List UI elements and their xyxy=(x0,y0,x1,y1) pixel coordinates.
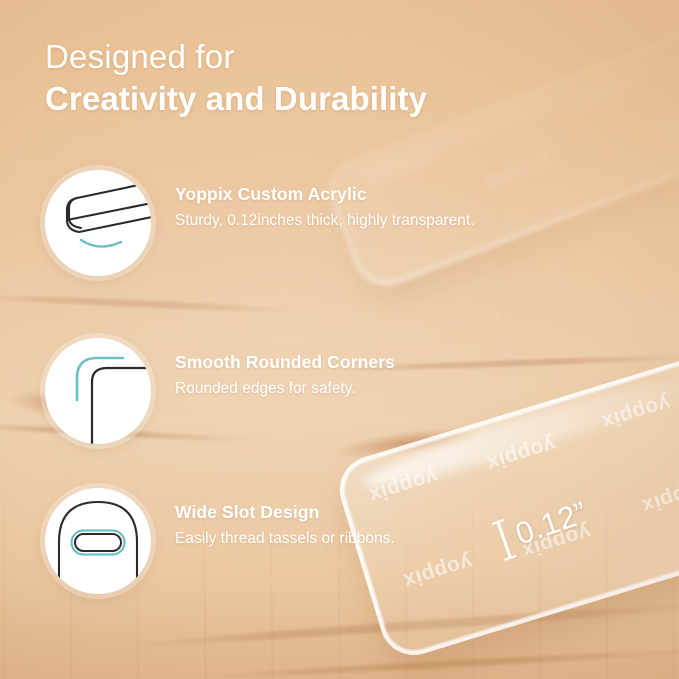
watermark-text: yoppix xyxy=(484,432,559,476)
product-feature-image: yoppix yoppix yoppix yoppix yoppix yoppi… xyxy=(0,0,679,679)
feature-icon-badge xyxy=(45,170,151,276)
wide-slot-icon xyxy=(45,488,151,594)
feature-text: Yoppix Custom Acrylic Sturdy, 0.12inches… xyxy=(175,184,475,231)
headline-line-2: Creativity and Durability xyxy=(45,79,427,119)
feature-item: Smooth Rounded Corners Rounded edges for… xyxy=(45,338,475,448)
page-title: Designed for Creativity and Durability xyxy=(45,38,427,119)
feature-description: Easily thread tassels or ribbons. xyxy=(175,529,475,549)
watermark-text: yoppix xyxy=(639,474,679,518)
feature-icon-badge xyxy=(45,488,151,594)
feature-text: Wide Slot Design Easily thread tassels o… xyxy=(175,502,475,549)
feature-icon-clip xyxy=(45,488,151,594)
feature-icon-badge xyxy=(45,338,151,444)
feature-icon-clip xyxy=(45,338,151,444)
rounded-corner-icon xyxy=(45,338,151,444)
feature-description: Rounded edges for safety. xyxy=(175,379,475,399)
feature-title: Yoppix Custom Acrylic xyxy=(175,184,475,205)
feature-text: Smooth Rounded Corners Rounded edges for… xyxy=(175,352,475,399)
feature-title: Smooth Rounded Corners xyxy=(175,352,475,373)
feature-description: Sturdy, 0.12inches thick, highly transpa… xyxy=(175,211,475,231)
feature-icon-clip xyxy=(45,170,151,276)
feature-item: Wide Slot Design Easily thread tassels o… xyxy=(45,488,475,598)
feature-item: Yoppix Custom Acrylic Sturdy, 0.12inches… xyxy=(45,170,475,280)
acrylic-sheet-edge-icon xyxy=(45,170,151,276)
headline-line-1: Designed for xyxy=(45,38,427,77)
watermark-text: yoppix xyxy=(599,390,674,434)
feature-title: Wide Slot Design xyxy=(175,502,475,523)
